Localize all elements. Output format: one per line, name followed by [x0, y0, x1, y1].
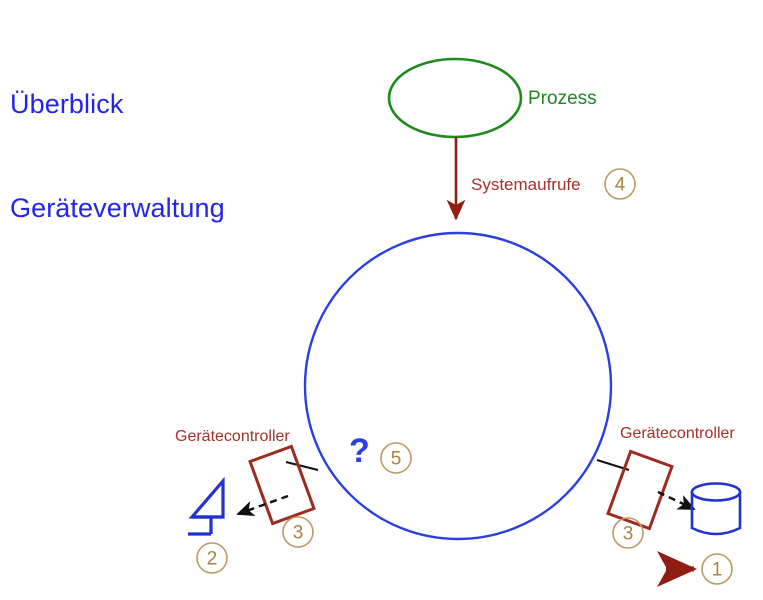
marker-two: 2	[197, 543, 227, 573]
disk-cylinder-icon	[692, 484, 740, 535]
marker-three-right-text: 3	[623, 524, 634, 545]
left-device-controller	[250, 446, 314, 523]
kernel-circle	[305, 233, 611, 539]
right-device-link	[658, 492, 694, 509]
marker-three-right: 3	[613, 518, 643, 548]
right-device-controller	[608, 451, 672, 528]
plotter-icon	[188, 481, 223, 534]
marker-two-text: 2	[207, 549, 218, 570]
kernel-question-mark: ?	[349, 432, 370, 470]
marker-three-left: 3	[283, 517, 313, 547]
marker-one: 1	[702, 554, 732, 584]
process-ellipse	[389, 59, 521, 137]
device-management-diagram: Prozess Systemaufrufe 4 ? 5 Gerätecontro…	[0, 0, 763, 600]
marker-five: 5	[381, 443, 411, 473]
left-controller-connector	[286, 462, 318, 470]
marker-four: 4	[605, 169, 635, 199]
marker-three-left-text: 3	[293, 523, 304, 544]
syscall-label: Systemaufrufe	[471, 175, 581, 194]
left-controller-label: Gerätecontroller	[175, 428, 290, 445]
right-controller-label: Gerätecontroller	[620, 425, 735, 442]
marker-four-text: 4	[615, 175, 626, 196]
marker-one-text: 1	[712, 560, 723, 581]
process-label: Prozess	[528, 88, 597, 109]
marker-five-text: 5	[391, 449, 402, 470]
